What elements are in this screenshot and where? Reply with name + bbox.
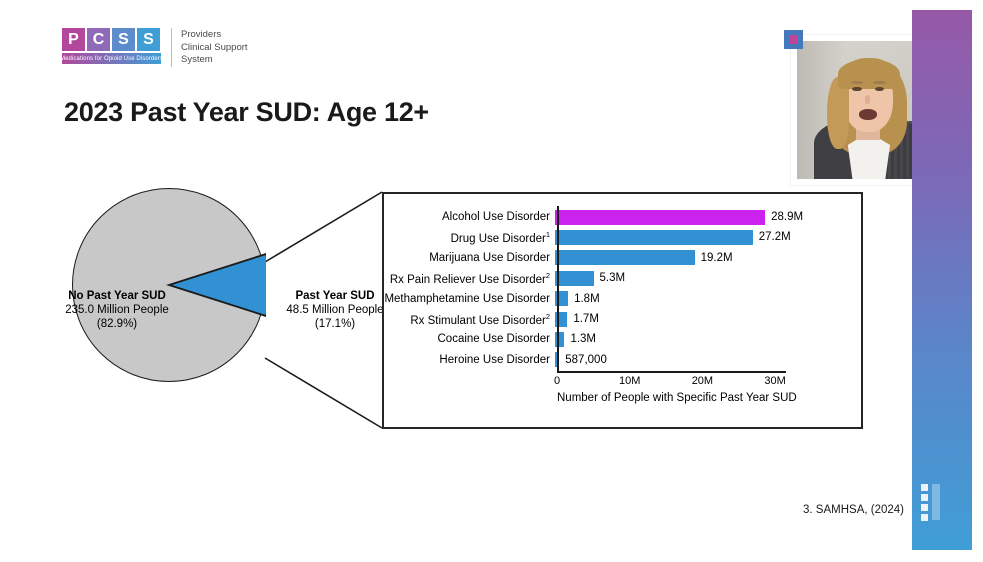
- logo-word-system: System: [181, 54, 248, 67]
- bar-value-label: 5.3M: [600, 272, 626, 284]
- video-corner-badge-icon: [784, 30, 803, 49]
- x-axis-tick-label: 10M: [619, 375, 640, 387]
- bar-category-label: Rx Stimulant Use Disorder2: [384, 312, 555, 327]
- bar-category-label: Rx Pain Reliever Use Disorder2: [384, 271, 555, 286]
- pcss-logo-mark: P C S S Medications for Opioid Use Disor…: [62, 28, 161, 64]
- sud-pie-chart: [72, 188, 266, 382]
- pcss-logo: P C S S Medications for Opioid Use Disor…: [62, 28, 248, 67]
- bar-category-footnote-marker: 2: [546, 312, 550, 321]
- bar-fill: [555, 271, 594, 286]
- pie-label-past-header: Past Year SUD: [274, 289, 396, 303]
- logo-wordmark: Providers Clinical Support System: [181, 28, 248, 67]
- logo-word-clinical-support: Clinical Support: [181, 42, 248, 55]
- bar-row: Rx Pain Reliever Use Disorder25.3M: [384, 269, 866, 287]
- bar-fill: [555, 230, 753, 245]
- video-corner-badge-inner-icon: [789, 35, 798, 44]
- bar-row: Methamphetamine Use Disorder1.8M: [384, 290, 866, 308]
- bar-track: 1.8M: [555, 290, 866, 308]
- logo-tagline: Medications for Opioid Use Disorders: [62, 53, 161, 64]
- bar-category-label: Marijuana Use Disorder: [384, 252, 555, 264]
- bar-fill: [555, 210, 765, 225]
- photo-hair-top: [838, 59, 900, 89]
- logo-word-providers: Providers: [181, 29, 248, 42]
- bar-category-label: Heroine Use Disorder: [384, 354, 555, 366]
- logo-letter-s1: S: [112, 28, 135, 51]
- bar-value-label: 587,000: [565, 354, 607, 366]
- pie-label-no-percent: (82.9%): [55, 317, 179, 331]
- pcss-mark-square-1-icon: [921, 484, 928, 491]
- logo-letter-s2: S: [137, 28, 160, 51]
- pie-label-past-year-sud: Past Year SUD 48.5 Million People (17.1%…: [274, 289, 396, 331]
- pcss-mark-square-2-icon: [921, 494, 928, 501]
- x-axis-title: Number of People with Specific Past Year…: [557, 392, 786, 404]
- pie-label-no-past-year-sud: No Past Year SUD 235.0 Million People (8…: [55, 289, 179, 331]
- pcss-mark-square-3-icon: [921, 504, 928, 511]
- pie-slice-past-year-sud: [72, 188, 266, 382]
- logo-letter-p: P: [62, 28, 85, 51]
- y-axis-line: [557, 206, 559, 372]
- bar-track: 28.9M: [555, 208, 866, 226]
- bar-row: Marijuana Use Disorder19.2M: [384, 249, 866, 267]
- bar-track: 1.3M: [555, 330, 866, 348]
- pie-label-no-header: No Past Year SUD: [55, 289, 179, 303]
- pie-label-past-people: 48.5 Million People: [274, 303, 396, 317]
- bar-row: Alcohol Use Disorder28.9M: [384, 208, 866, 226]
- bar-category-label: Cocaine Use Disorder: [384, 333, 555, 345]
- bar-row: Drug Use Disorder127.2M: [384, 228, 866, 246]
- pcss-mark-square-4-icon: [921, 514, 928, 521]
- photo-eyebrow-left: [851, 81, 864, 84]
- logo-letter-c: C: [87, 28, 110, 51]
- x-axis-tick-label: 20M: [692, 375, 713, 387]
- bar-fill: [555, 250, 695, 265]
- bar-category-label: Alcohol Use Disorder: [384, 211, 555, 223]
- bar-track: 1.7M: [555, 310, 866, 328]
- bar-row: Rx Stimulant Use Disorder21.7M: [384, 310, 866, 328]
- bar-track: 19.2M: [555, 249, 866, 267]
- right-gradient-bar: [912, 10, 972, 550]
- bar-track: 587,000: [555, 351, 866, 369]
- slide-canvas: P C S S Medications for Opioid Use Disor…: [0, 0, 983, 562]
- photo-mouth: [859, 109, 877, 120]
- bar-row: Cocaine Use Disorder1.3M: [384, 330, 866, 348]
- x-axis-tick-label: 30M: [764, 375, 785, 387]
- bar-track: 5.3M: [555, 269, 866, 287]
- x-axis-ticks: 010M20M30M: [557, 375, 786, 391]
- pie-label-past-percent: (17.1%): [274, 317, 396, 331]
- connector-line-top: [265, 192, 382, 262]
- bar-value-label: 1.7M: [573, 313, 599, 325]
- bar-value-label: 28.9M: [771, 211, 803, 223]
- bar-category-label: Drug Use Disorder1: [384, 230, 555, 245]
- sud-bar-chart-panel: Alcohol Use Disorder28.9MDrug Use Disord…: [382, 192, 863, 429]
- logo-divider: [171, 28, 172, 67]
- photo-eyebrow-right: [873, 81, 886, 84]
- bar-category-footnote-marker: 1: [546, 230, 550, 239]
- bar-value-label: 1.8M: [574, 293, 600, 305]
- bar-value-label: 27.2M: [759, 231, 791, 243]
- bar-value-label: 19.2M: [701, 252, 733, 264]
- bar-value-label: 1.3M: [570, 333, 596, 345]
- bar-chart-plot: Alcohol Use Disorder28.9MDrug Use Disord…: [384, 194, 861, 427]
- pie-label-no-people: 235.0 Million People: [55, 303, 179, 317]
- bar-track: 27.2M: [555, 228, 866, 246]
- citation-text: 3. SAMHSA, (2024): [640, 504, 904, 516]
- bar-row: Heroine Use Disorder587,000: [384, 351, 866, 369]
- connector-line-bottom: [265, 358, 382, 428]
- bar-category-label: Methamphetamine Use Disorder: [384, 293, 555, 305]
- pcss-logo-letters: P C S S: [62, 28, 161, 51]
- pcss-mark-bar-icon: [932, 484, 940, 520]
- x-axis-tick-label: 0: [554, 375, 560, 387]
- pcss-mark-icon: [921, 484, 947, 520]
- bar-category-footnote-marker: 2: [546, 271, 550, 280]
- x-axis-line: [557, 371, 786, 373]
- page-title: 2023 Past Year SUD: Age 12+: [64, 97, 429, 128]
